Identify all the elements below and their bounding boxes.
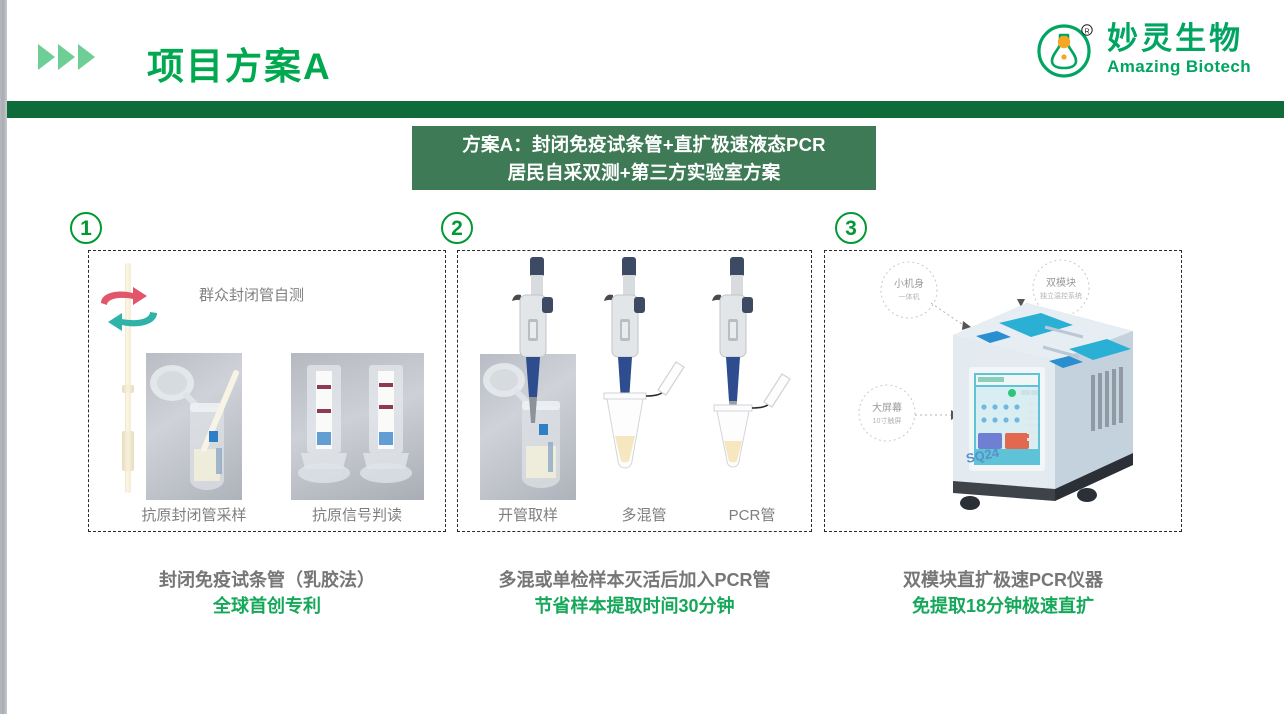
panel1-heading: 群众封闭管自测 — [199, 284, 304, 305]
caption-3-main: 双模块直扩极速PCR仪器 — [824, 567, 1182, 593]
step-panel-1: 群众封闭管自测 — [88, 250, 446, 532]
pcr-instrument-illustration: 小机身 一体机 双模块 独立温控系统 大屏幕 10寸触屏 — [835, 257, 1173, 525]
pcr-tube-illustration — [706, 253, 768, 503]
step-number-1: 1 — [70, 212, 102, 244]
photo-caption-1b: 抗原信号判读 — [296, 504, 418, 525]
photo-caption-2c: PCR管 — [696, 504, 808, 525]
pipette-illustration-1 — [506, 253, 568, 513]
photo-caption-2b: 多混管 — [586, 504, 702, 525]
caption-3-sub: 免提取18分钟极速直扩 — [824, 593, 1182, 619]
svg-text:独立温控系统: 独立温控系统 — [1040, 291, 1082, 300]
antigen-signal-reading-photo — [291, 353, 424, 500]
caption-1-sub: 全球首创专利 — [88, 593, 446, 619]
antigen-closed-tube-sampling-photo — [146, 353, 242, 500]
step-number-3: 3 — [835, 212, 867, 244]
caption-2-main: 多混或单检样本灭活后加入PCR管 — [457, 567, 812, 593]
photo-caption-2a: 开管取样 — [468, 504, 588, 525]
step-caption-1: 封闭免疫试条管（乳胶法） 全球首创专利 — [88, 567, 446, 619]
caption-2-sub: 节省样本提取时间30分钟 — [457, 593, 812, 619]
header-divider — [7, 101, 1284, 118]
svg-text:大屏幕: 大屏幕 — [872, 401, 902, 414]
photo-caption-1a: 抗原封闭管采样 — [133, 504, 255, 525]
svg-text:R: R — [1085, 28, 1090, 35]
banner-line-2: 居民自采双测+第三方实验室方案 — [508, 159, 781, 185]
svg-text:双模块: 双模块 — [1046, 277, 1076, 289]
logo-cn-name: 妙灵生物 — [1107, 23, 1251, 54]
logo-en-name: Amazing Biotech — [1107, 58, 1251, 75]
step-panel-3: 小机身 一体机 双模块 独立温控系统 大屏幕 10寸触屏 — [824, 250, 1182, 532]
slide-root: 项目方案A R 妙灵生物 Amazing Biotech — [0, 0, 1284, 714]
company-logo: R 妙灵生物 Amazing Biotech — [1036, 18, 1251, 80]
rotate-arrows-icon — [95, 283, 163, 339]
slide-header: 项目方案A R 妙灵生物 Amazing Biotech — [7, 0, 1284, 101]
multi-mix-tube-illustration — [598, 253, 660, 503]
svg-text:小机身: 小机身 — [894, 277, 924, 290]
step-caption-2: 多混或单检样本灭活后加入PCR管 节省样本提取时间30分钟 — [457, 567, 812, 619]
step-number-2: 2 — [441, 212, 473, 244]
svg-text:10寸触屏: 10寸触屏 — [873, 416, 902, 425]
svg-text:一体机: 一体机 — [899, 292, 920, 301]
step-panel-2: 开管取样 多混管 — [457, 250, 812, 532]
swab-illustration — [121, 263, 135, 493]
banner-line-1: 方案A：封闭免疫试条管+直扩极速液态PCR — [462, 131, 825, 157]
flask-circle-logo-icon: R — [1036, 18, 1098, 80]
caption-1-main: 封闭免疫试条管（乳胶法） — [88, 567, 446, 593]
scheme-banner: 方案A：封闭免疫试条管+直扩极速液态PCR 居民自采双测+第三方实验室方案 — [412, 126, 876, 190]
step-caption-3: 双模块直扩极速PCR仪器 免提取18分钟极速直扩 — [824, 567, 1182, 619]
left-scrollbar-strip[interactable] — [0, 0, 7, 714]
chevron-right-icon — [38, 44, 95, 70]
page-title: 项目方案A — [147, 36, 332, 90]
